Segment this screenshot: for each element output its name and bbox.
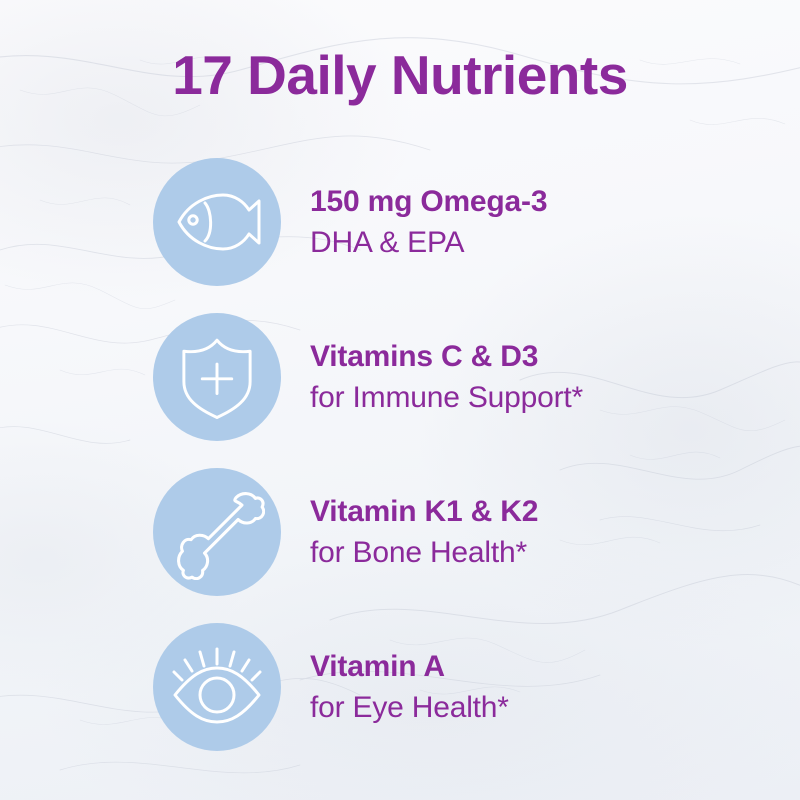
omega3-secondary-label: DHA & EPA [310, 222, 547, 263]
fish-icon-badge [153, 158, 281, 286]
vitamin-k-secondary-label: for Bone Health* [310, 532, 538, 573]
list-item-vitamin-k: Vitamin K1 & K2 for Bone Health* [153, 468, 773, 596]
nutrient-list: 150 mg Omega-3 DHA & EPA Vita [0, 0, 800, 800]
vitamin-a-primary-label: Vitamin A [310, 646, 509, 687]
nutrient-benefits-panel: 17 Daily Nutrients 150 mg Omega-3 [0, 0, 800, 800]
list-item-vitamins-c-d3: Vitamins C & D3 for Immune Support* [153, 313, 773, 441]
list-item-vitamin-a: Vitamin A for Eye Health* [153, 623, 773, 751]
eye-icon [167, 637, 267, 737]
eye-icon-badge [153, 623, 281, 751]
list-item-omega3: 150 mg Omega-3 DHA & EPA [153, 158, 773, 286]
vitamin-k-primary-label: Vitamin K1 & K2 [310, 491, 538, 532]
fish-icon [167, 172, 267, 272]
vitamin-a-text-block: Vitamin A for Eye Health* [310, 646, 509, 728]
vitamins-c-d3-secondary-label: for Immune Support* [310, 377, 583, 418]
bone-icon-badge [153, 468, 281, 596]
vitamin-a-secondary-label: for Eye Health* [310, 687, 509, 728]
omega3-primary-label: 150 mg Omega-3 [310, 181, 547, 222]
bone-icon [169, 484, 265, 580]
vitamins-c-d3-primary-label: Vitamins C & D3 [310, 336, 583, 377]
vitamins-c-d3-text-block: Vitamins C & D3 for Immune Support* [310, 336, 583, 418]
shield-plus-icon [171, 331, 263, 423]
omega3-text-block: 150 mg Omega-3 DHA & EPA [310, 181, 547, 263]
shield-icon-badge [153, 313, 281, 441]
vitamin-k-text-block: Vitamin K1 & K2 for Bone Health* [310, 491, 538, 573]
